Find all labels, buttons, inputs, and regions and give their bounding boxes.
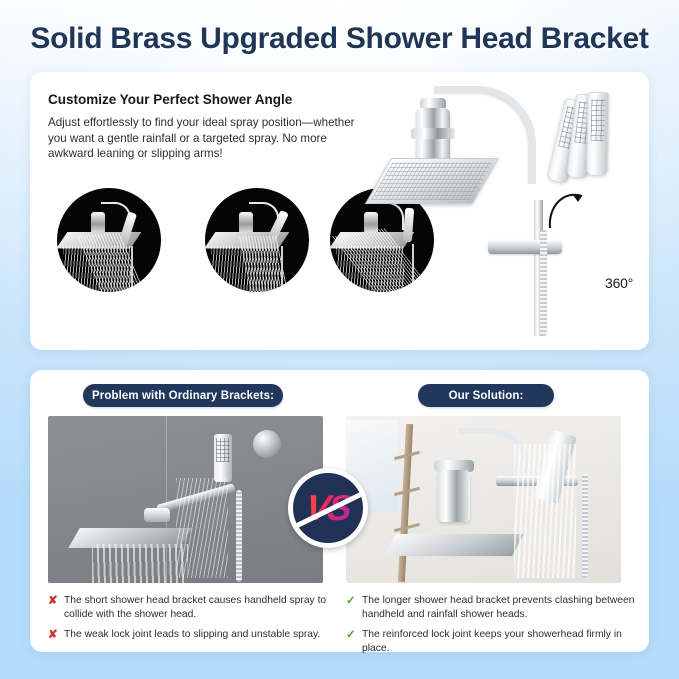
list-item: ✓ The longer shower head bracket prevent…	[346, 594, 638, 622]
customize-angle-card: Customize Your Perfect Shower Angle Adju…	[30, 72, 649, 350]
rainfall-head	[384, 534, 524, 556]
ordinary-bracket-photo	[48, 416, 323, 583]
list-item-label: The short shower head bracket causes han…	[64, 594, 334, 622]
hero-product-photo	[368, 80, 640, 342]
solution-badge: Our Solution:	[418, 384, 554, 407]
check-icon: ✓	[346, 628, 359, 642]
shower-angle-photo-2	[205, 188, 309, 292]
shower-valve	[253, 430, 281, 458]
vs-badge-circle: VS	[293, 473, 363, 543]
rotation-label: 360°	[605, 275, 633, 291]
cross-icon: ✘	[48, 594, 61, 608]
section-body-text: Adjust effortlessly to find your ideal s…	[48, 115, 358, 162]
list-item: ✘ The short shower head bracket causes h…	[48, 594, 334, 622]
handheld-head	[214, 434, 232, 482]
list-item-label: The longer shower head bracket prevents …	[362, 594, 638, 622]
shower-filter	[438, 470, 470, 522]
water-overflow	[92, 544, 188, 583]
problem-badge: Problem with Ordinary Brackets:	[83, 384, 283, 407]
bracket-arm	[488, 240, 562, 254]
list-item: ✘ The weak lock joint leads to slipping …	[48, 628, 334, 642]
cross-icon: ✘	[48, 628, 61, 642]
page-title: Solid Brass Upgraded Shower Head Bracket	[0, 22, 679, 56]
rainfall-shower-head	[365, 158, 500, 204]
solution-bullet-list: ✓ The longer shower head bracket prevent…	[346, 594, 638, 662]
shower-filter	[416, 108, 450, 162]
handheld-wand-position-3	[586, 92, 609, 176]
list-item-label: The weak lock joint leads to slipping an…	[64, 628, 320, 642]
shower-illustration	[205, 188, 309, 292]
shower-hose	[582, 474, 588, 578]
list-item: ✓ The reinforced lock joint keeps your s…	[346, 628, 638, 656]
shower-angle-photo-1	[57, 188, 161, 292]
vs-badge: VS	[288, 468, 368, 548]
rotation-arrow-icon	[544, 188, 590, 234]
check-icon: ✓	[346, 594, 359, 608]
shower-hose	[540, 230, 547, 336]
lock-joint	[144, 508, 170, 522]
towel-ladder	[398, 424, 413, 582]
water-spray	[514, 444, 576, 578]
our-solution-photo	[346, 416, 621, 583]
section-heading: Customize Your Perfect Shower Angle	[48, 92, 292, 107]
list-item-label: The reinforced lock joint keeps your sho…	[362, 628, 638, 656]
problem-bullet-list: ✘ The short shower head bracket causes h…	[48, 594, 334, 648]
infographic-page: Solid Brass Upgraded Shower Head Bracket…	[0, 0, 679, 679]
shower-illustration	[57, 188, 161, 292]
shower-hose	[236, 490, 242, 582]
